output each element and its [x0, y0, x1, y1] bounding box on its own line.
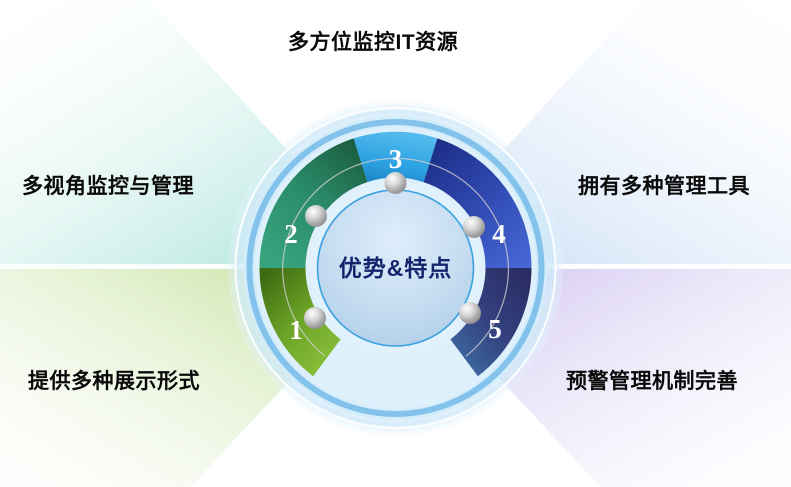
caption-right-top: 拥有多种管理工具 — [578, 170, 750, 200]
marker-2[interactable] — [305, 205, 327, 227]
segment-number-4: 4 — [492, 219, 506, 249]
caption-left-top: 多视角监控与管理 — [22, 170, 194, 200]
caption-top: 多方位监控IT资源 — [288, 26, 458, 56]
caption-right-bottom: 预警管理机制完善 — [566, 365, 738, 395]
marker-1[interactable] — [304, 307, 326, 329]
center-hub: 优势&特点 — [310, 182, 482, 354]
caption-left-bottom: 提供多种展示形式 — [28, 365, 200, 395]
marker-3[interactable] — [385, 172, 407, 194]
center-title: 优势&特点 — [339, 255, 453, 281]
circular-diagram: 优势&特点 3 2 1 4 5 — [0, 0, 791, 487]
marker-4[interactable] — [463, 216, 485, 238]
segment-number-2: 2 — [284, 219, 298, 249]
segment-number-5: 5 — [488, 314, 502, 344]
segment-number-3: 3 — [389, 144, 403, 174]
marker-5[interactable] — [459, 302, 481, 324]
infographic-canvas: 优势&特点 3 2 1 4 5 多方位监控IT资源 多视角监控与管理 提供多种展… — [0, 0, 791, 487]
segment-number-1: 1 — [289, 315, 303, 345]
